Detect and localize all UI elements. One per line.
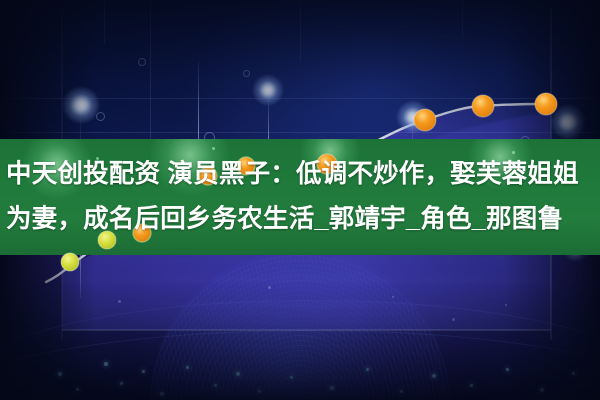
title-line-1: 中天创投配资 演员黑子：低调不炒作，娶芙蓉姐姐 xyxy=(6,152,594,197)
banner-image: 中天创投配资 演员黑子：低调不炒作，娶芙蓉姐姐 为妻，成名后回乡务农生活_郭靖宇… xyxy=(0,0,600,400)
banner-title: 中天创投配资 演员黑子：低调不炒作，娶芙蓉姐姐 为妻，成名后回乡务农生活_郭靖宇… xyxy=(0,139,600,255)
title-line-2: 为妻，成名后回乡务农生活_郭靖宇_角色_那图鲁 xyxy=(6,197,594,242)
